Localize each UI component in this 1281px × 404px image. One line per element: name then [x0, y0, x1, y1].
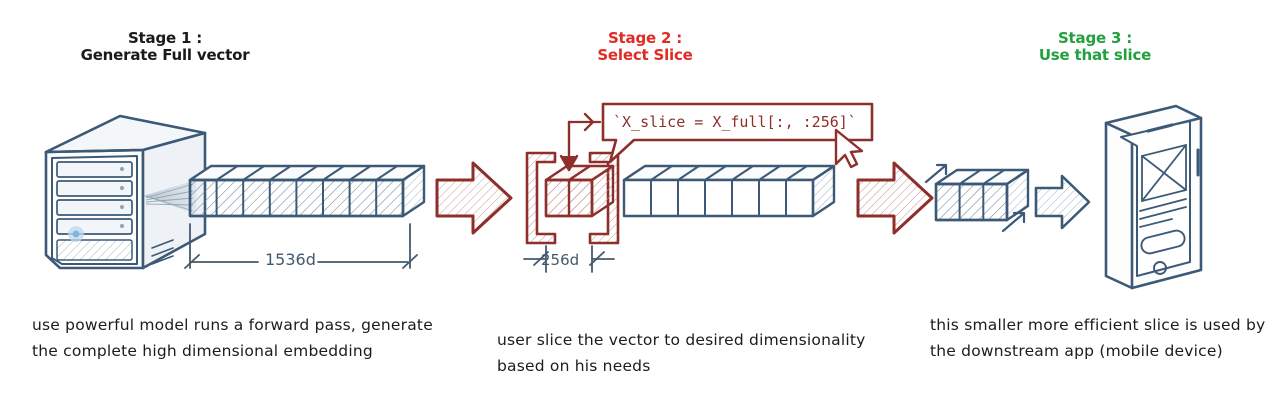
full-vector-bar — [190, 166, 424, 216]
stage-2-caption: user slice the vector to desired dimensi… — [497, 327, 897, 379]
arrow-slice-to-phone — [1036, 176, 1089, 228]
callout-leader-line — [569, 114, 600, 130]
diagram-canvas: Stage 1 : Generate Full vector Stage 2 :… — [0, 0, 1281, 404]
selected-slice-bar — [546, 166, 613, 216]
remaining-vector-bar — [624, 166, 834, 216]
dimension-256d-label: 256d — [541, 251, 579, 269]
code-slice-label: `X_slice = X_full[:, :256]` — [613, 113, 857, 131]
stage-3-caption: this smaller more efficient slice is use… — [930, 312, 1280, 364]
dimension-1536d-label: 1536d — [265, 250, 316, 269]
arrow-down-to-slice — [561, 122, 577, 170]
arrow-stage2-to-stage3 — [858, 163, 932, 233]
mobile-phone-icon — [1106, 106, 1201, 288]
arrow-stage1-to-stage2 — [437, 163, 511, 233]
stage-1-caption: use powerful model runs a forward pass, … — [32, 312, 442, 364]
